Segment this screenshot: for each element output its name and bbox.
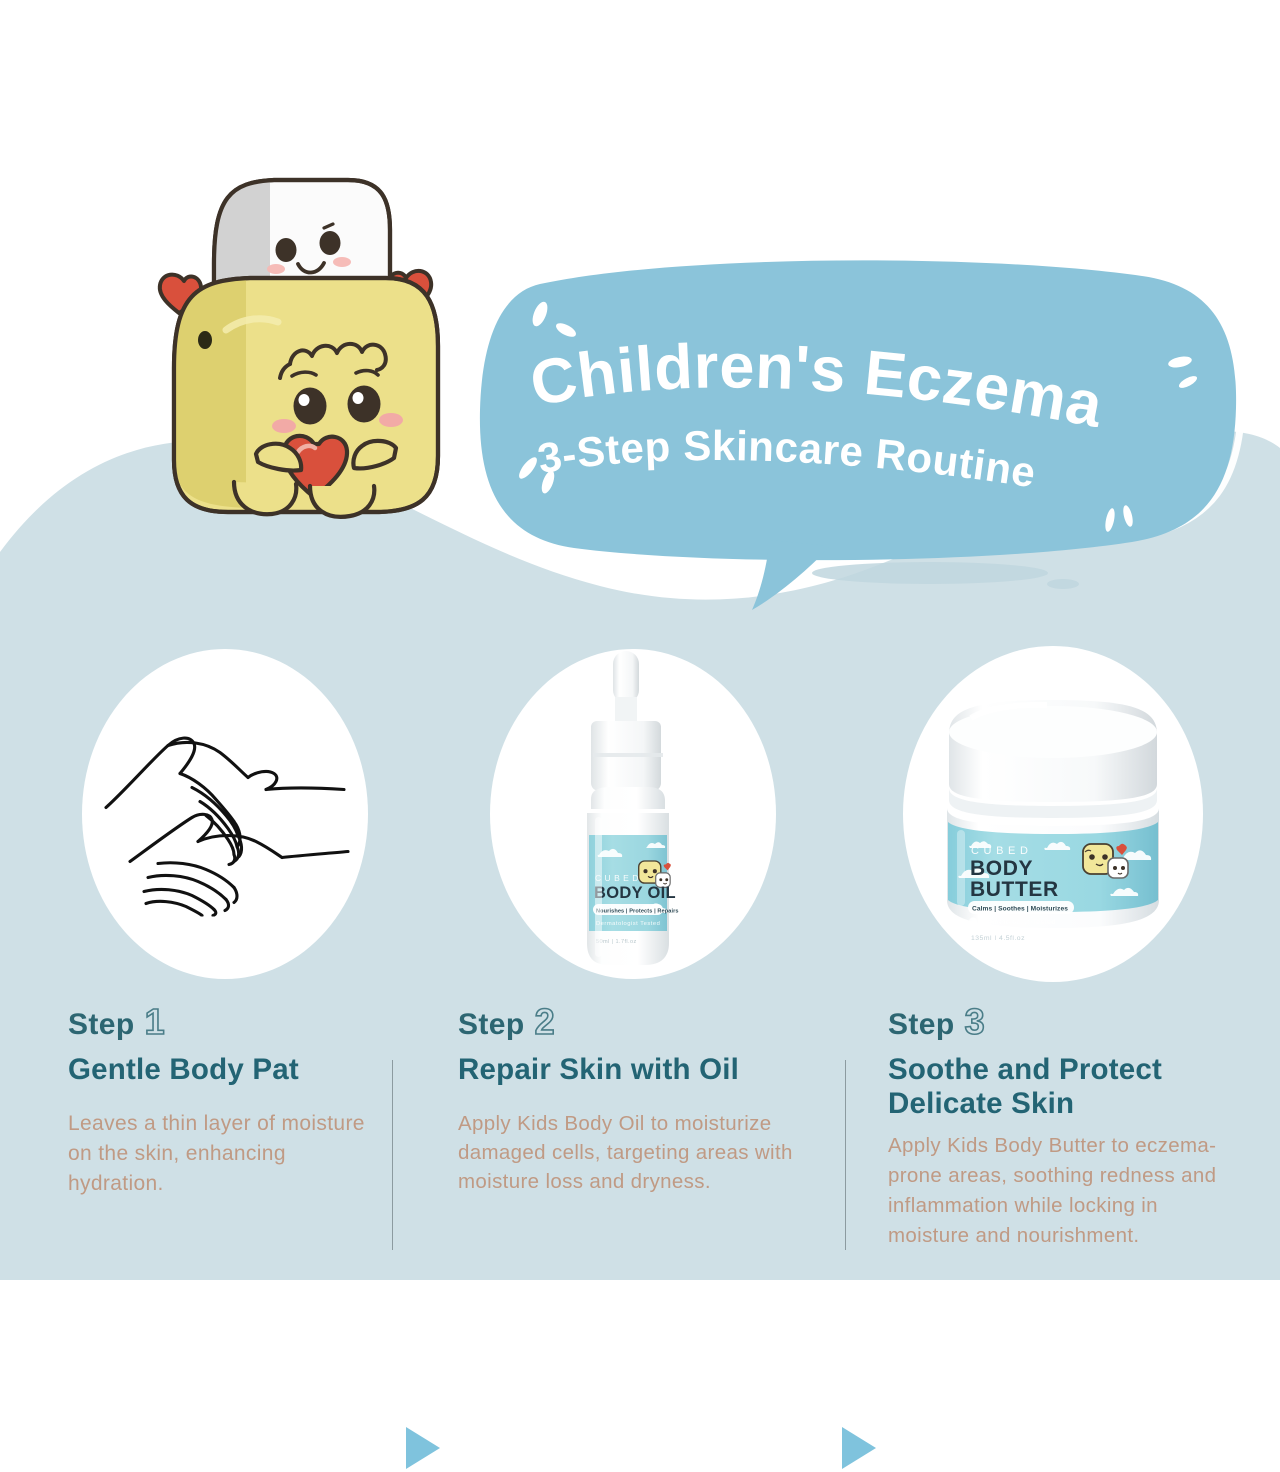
- butter-brand: CUBED: [971, 845, 1033, 857]
- hero-section: Children's Eczema 3-Step Skincare Routin…: [0, 0, 1280, 620]
- butter-claims: Calms | Soothes | Moisturizes: [972, 906, 1068, 913]
- oil-volume: 50ml | 1.7fl.oz: [596, 939, 637, 945]
- oil-claims: Nourishes | Protects | Repairs: [596, 908, 679, 914]
- step-1-title: Gentle Body Pat: [68, 1053, 378, 1087]
- two-hands-patting-icon: [100, 712, 350, 917]
- step-1-kicker-label: Step: [68, 1010, 135, 1040]
- step-2-kicker: Step 2: [458, 1004, 816, 1040]
- arrow-step1-to-step2: [402, 1424, 444, 1472]
- oil-name: BODY OIL: [594, 884, 676, 902]
- step-2-number: 2: [535, 1004, 555, 1040]
- step-3-text: Step 3 Soothe and Protect Delicate Skin …: [888, 1004, 1228, 1250]
- step-3-kicker-label: Step: [888, 1010, 955, 1040]
- step-1-kicker: Step 1: [68, 1004, 378, 1040]
- step-1-visual: [60, 628, 390, 1000]
- butter-volume: 135ml | 4.5fl.oz: [971, 935, 1025, 940]
- product-row: CUBED BODY OIL Nourishes | Protects | Re…: [0, 628, 1280, 1000]
- step-2-kicker-label: Step: [458, 1010, 525, 1040]
- step-3-body: Apply Kids Body Butter to eczema-prone a…: [888, 1131, 1228, 1250]
- step-2-text: Step 2 Repair Skin with Oil Apply Kids B…: [458, 1004, 816, 1197]
- step-2-body: Apply Kids Body Oil to moisturize damage…: [458, 1109, 816, 1196]
- body-butter-jar-image: CUBED BODY BUTTER Calms | Soothes | Mois…: [927, 688, 1179, 940]
- oil-tested: Dermatologist Tested: [596, 921, 660, 927]
- step-3-kicker: Step 3: [888, 1004, 1228, 1040]
- step-2-title: Repair Skin with Oil: [458, 1053, 816, 1087]
- step-3-visual: CUBED BODY BUTTER Calms | Soothes | Mois…: [878, 628, 1228, 1000]
- body-oil-bottle-image: CUBED BODY OIL Nourishes | Protects | Re…: [543, 649, 723, 979]
- speech-bubble: Children's Eczema 3-Step Skincare Routin…: [470, 258, 1250, 618]
- step-3-number: 3: [965, 1004, 985, 1040]
- cubed-mascot-pair-icon: [138, 168, 468, 558]
- butter-tested: Dermatologist Tested: [980, 919, 1056, 926]
- step-1-text: Step 1 Gentle Body Pat Leaves a thin lay…: [68, 1004, 378, 1199]
- butter-name-2: BUTTER: [970, 878, 1059, 901]
- butter-name-1: BODY: [970, 857, 1033, 880]
- arrow-step2-to-step3: [838, 1424, 880, 1472]
- steps-section: Step 1 Gentle Body Pat Leaves a thin lay…: [0, 1004, 1280, 1280]
- step-3-title: Soothe and Protect Delicate Skin: [888, 1053, 1228, 1121]
- step-1-body: Leaves a thin layer of moisture on the s…: [68, 1109, 378, 1198]
- oil-brand: CUBED: [595, 873, 642, 883]
- step-1-number: 1: [145, 1004, 165, 1040]
- step-2-visual: CUBED BODY OIL Nourishes | Protects | Re…: [468, 628, 798, 1000]
